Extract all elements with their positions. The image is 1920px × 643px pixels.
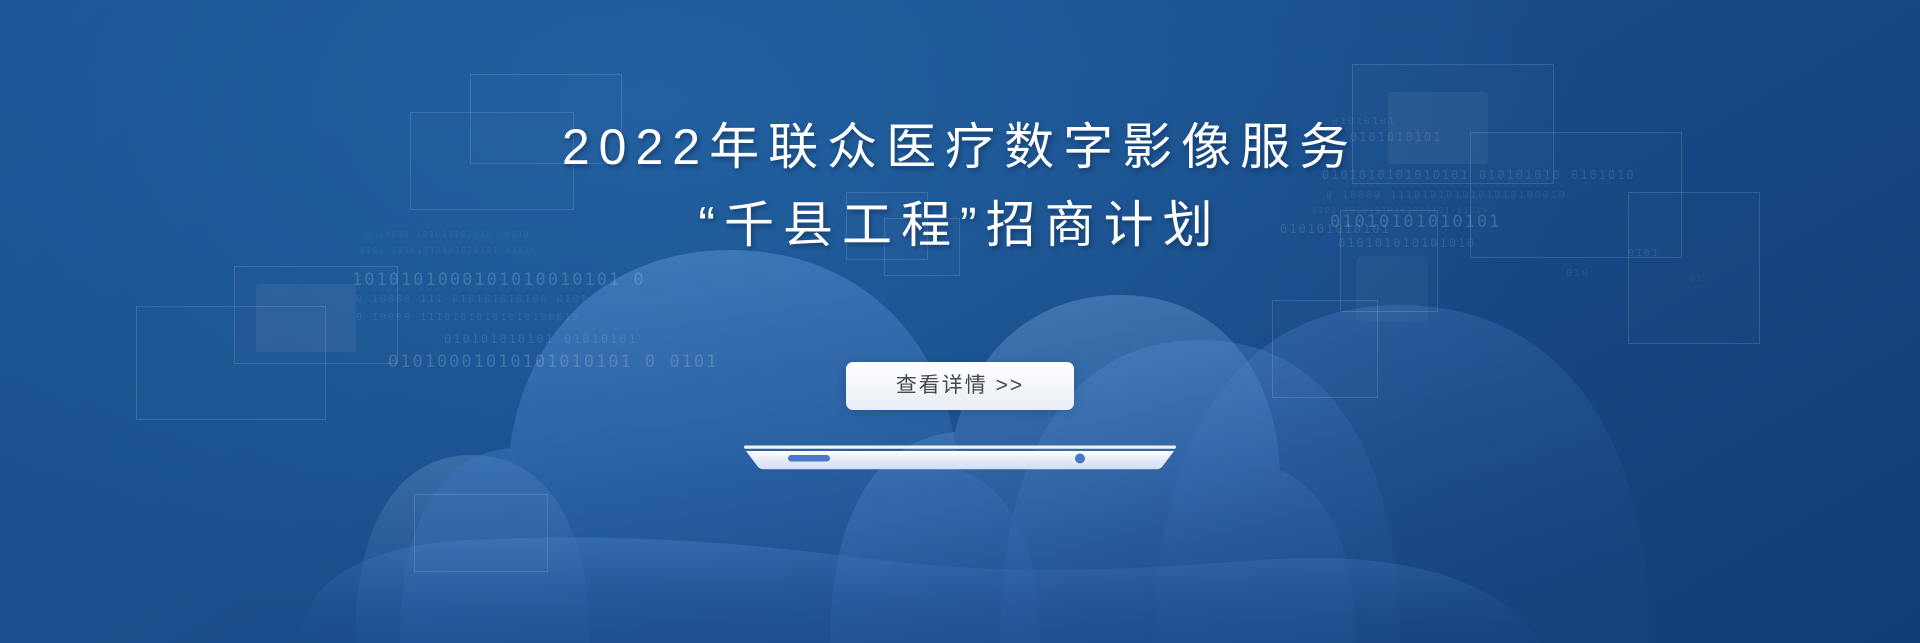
deco-rect-left-fill	[256, 284, 356, 352]
headline-line-1: 2022年联众医疗数字影像服务	[0, 108, 1920, 186]
binary-text-left-1: 1010101000101010010101 0	[352, 270, 646, 290]
headline-line-2: “千县工程”招商计划	[0, 186, 1920, 264]
cloud-right-far	[1155, 305, 1650, 643]
deco-rect-left-1	[234, 266, 398, 364]
headline-block: 2022年联众医疗数字影像服务 “千县工程”招商计划	[0, 108, 1920, 264]
deco-rect-mid-right-fill	[1356, 256, 1428, 322]
cloud-left-small	[355, 455, 590, 643]
binary-text-left-3: 0 10000 11101010101010100010	[356, 312, 581, 323]
laptop-base-graphic	[744, 443, 1176, 473]
cloud-base-haze	[300, 538, 1540, 643]
binary-text-left-4: 010101010101 01010101	[444, 332, 638, 346]
cta-container: 查看详情 >>	[0, 362, 1920, 410]
view-details-button[interactable]: 查看详情 >>	[846, 362, 1074, 410]
binary-text-left-2: 0 10000 111 010101010100 0101	[356, 294, 589, 305]
cloud-illustration	[0, 0, 1920, 643]
laptop-screen-edge	[744, 446, 1176, 449]
promo-banner: 1010101000101010010101 0 0 10000 111 010…	[0, 0, 1920, 643]
binary-text-far-right-2: 010	[1566, 268, 1590, 279]
laptop-touchpad-indicator	[788, 455, 830, 462]
binary-text-far-right-3: 01	[1690, 274, 1703, 283]
cloud-shapes-svg	[0, 0, 1920, 643]
laptop-camera-dot	[1075, 454, 1085, 464]
laptop-svg	[744, 443, 1176, 473]
deco-rect-bottom-left	[414, 494, 548, 572]
